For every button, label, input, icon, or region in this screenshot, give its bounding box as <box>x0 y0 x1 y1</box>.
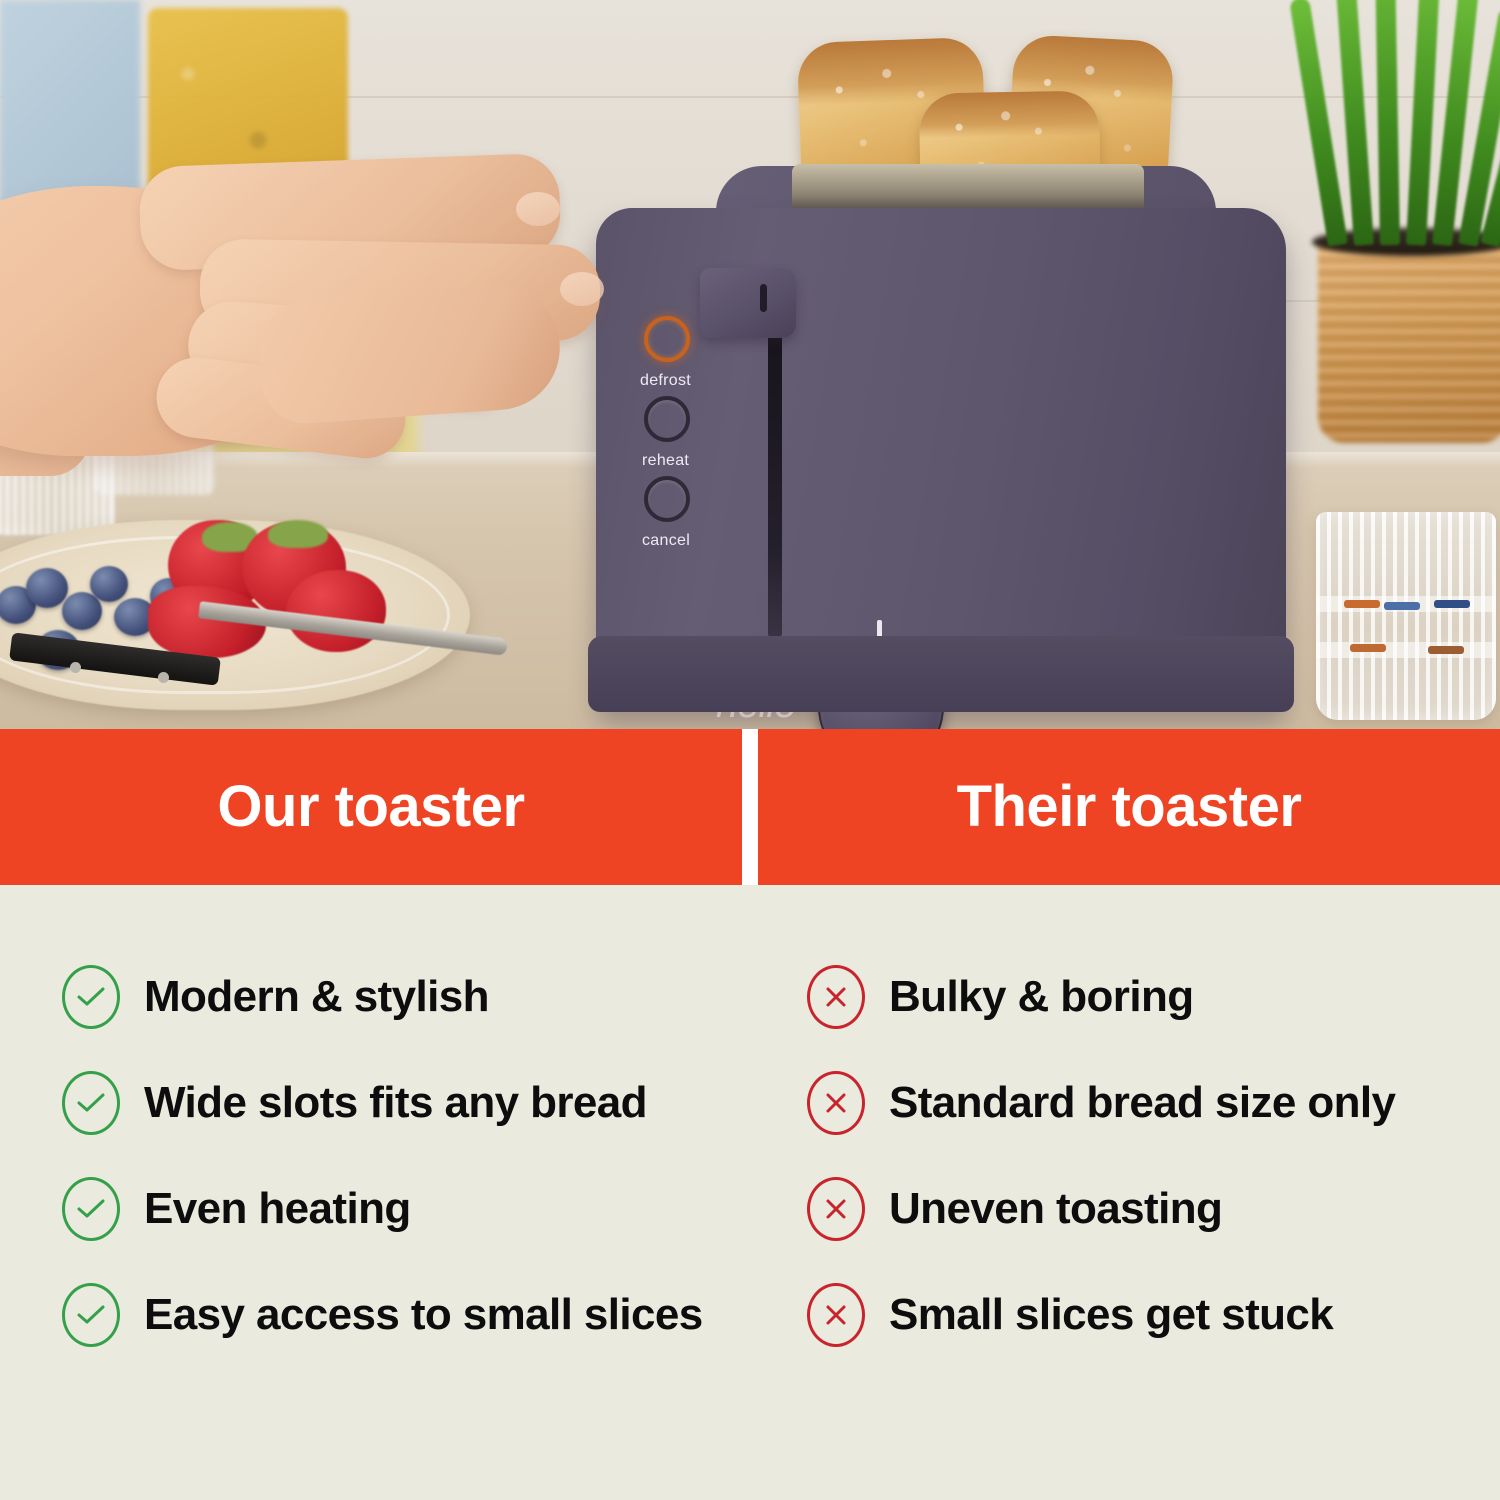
list-item-label: Modern & stylish <box>144 974 489 1020</box>
glass-refraction <box>1434 600 1470 608</box>
glass-band <box>1316 642 1496 658</box>
check-circle-icon <box>62 965 120 1029</box>
header-ours-title: Our toaster <box>217 778 524 836</box>
knife-rivet <box>70 662 81 673</box>
list-item: Small slices get stuck <box>807 1283 1500 1347</box>
list-item-label: Wide slots fits any bread <box>144 1080 647 1126</box>
pot-ribs <box>1318 238 1500 443</box>
plant-pot <box>1318 238 1500 443</box>
lever-notch <box>760 284 767 312</box>
ours-list: Modern & stylish Wide slots fits any bre… <box>0 885 755 1500</box>
list-item: Standard bread size only <box>807 1071 1500 1135</box>
column-headers: Our toaster Their toaster <box>0 729 1500 885</box>
hand-pressing-lever <box>0 96 760 516</box>
plant-leaf <box>1375 0 1400 245</box>
list-item-label: Bulky & boring <box>889 974 1194 1020</box>
strawberry-leaf <box>268 520 328 548</box>
comparison-lists: Modern & stylish Wide slots fits any bre… <box>0 885 1500 1500</box>
fingernail <box>560 272 604 306</box>
cross-circle-icon <box>807 965 865 1029</box>
list-item: Bulky & boring <box>807 965 1500 1029</box>
potted-plant <box>1320 0 1500 245</box>
list-item-label: Small slices get stuck <box>889 1292 1333 1338</box>
glass-refraction <box>1428 646 1464 654</box>
glass-flutes <box>1316 512 1496 720</box>
toaster-slot-seam <box>768 330 782 640</box>
list-item: Even heating <box>62 1177 755 1241</box>
glass-refraction <box>1344 600 1380 608</box>
header-divider <box>742 729 758 885</box>
toaster-base <box>588 636 1294 712</box>
thumb <box>256 282 564 427</box>
list-item-label: Easy access to small slices <box>144 1292 703 1338</box>
header-ours: Our toaster <box>0 729 742 885</box>
comparison-infographic: defrost reheat cancel hello 2 3 4 5 <box>0 0 1500 1500</box>
check-circle-icon <box>62 1177 120 1241</box>
cross-circle-icon <box>807 1283 865 1347</box>
glass-refraction <box>1350 644 1386 652</box>
header-theirs-title: Their toaster <box>957 778 1302 836</box>
glass-refraction <box>1384 602 1420 610</box>
cross-circle-icon <box>807 1071 865 1135</box>
list-item: Uneven toasting <box>807 1177 1500 1241</box>
blueberry <box>90 566 128 602</box>
list-item: Easy access to small slices <box>62 1283 755 1347</box>
list-item: Wide slots fits any bread <box>62 1071 755 1135</box>
knife-rivet <box>158 672 169 683</box>
fingernail <box>516 192 560 226</box>
strawberry-slice <box>286 570 386 652</box>
list-item-label: Standard bread size only <box>889 1080 1395 1126</box>
check-circle-icon <box>62 1283 120 1347</box>
list-item-label: Even heating <box>144 1186 411 1232</box>
header-theirs: Their toaster <box>758 729 1500 885</box>
list-item-label: Uneven toasting <box>889 1186 1222 1232</box>
water-glass-right <box>1316 512 1496 720</box>
cross-circle-icon <box>807 1177 865 1241</box>
blueberry <box>26 568 68 608</box>
cancel-label: cancel <box>642 532 690 550</box>
check-circle-icon <box>62 1071 120 1135</box>
theirs-list: Bulky & boring Standard bread size only … <box>755 885 1500 1500</box>
hero-product-photo: defrost reheat cancel hello 2 3 4 5 <box>0 0 1500 729</box>
list-item: Modern & stylish <box>62 965 755 1029</box>
